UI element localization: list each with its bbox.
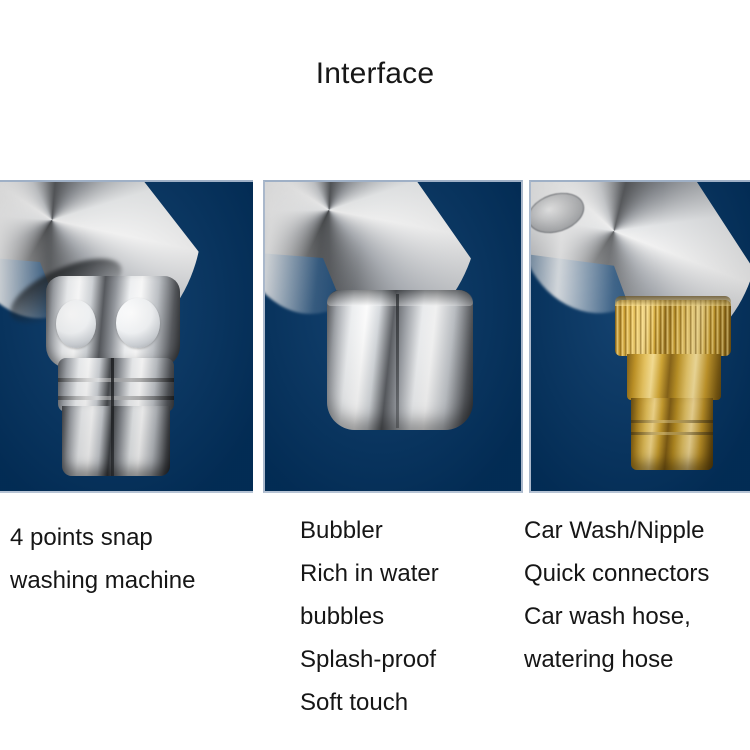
snap-button-left xyxy=(56,300,96,348)
page-title: Interface xyxy=(0,56,750,92)
brass-connector-body xyxy=(627,354,721,400)
caption-block-1: 4 points snap washing machine xyxy=(10,516,250,602)
brass-groove-lower xyxy=(631,432,713,435)
caption-line: Car Wash/Nipple xyxy=(524,509,750,552)
caption-block-3: Car Wash/Nipple Quick connectors Car was… xyxy=(524,509,750,681)
caption-line: 4 points snap xyxy=(10,516,250,559)
product-image-strip xyxy=(0,180,750,493)
caption-block-2: Bubbler Rich in water bubbles Splash-pro… xyxy=(300,509,515,724)
caption-line: Rich in water xyxy=(300,552,515,595)
product-infographic: Interface xyxy=(0,0,750,750)
caption-line: Bubbler xyxy=(300,509,515,552)
caption-line: washing machine xyxy=(10,559,250,602)
caption-line: Soft touch xyxy=(300,681,515,724)
connector-ring-upper xyxy=(58,378,174,382)
faucet-brass-nipple-icon xyxy=(531,182,750,491)
caption-line: watering hose xyxy=(524,638,750,681)
product-image-panel-1 xyxy=(0,180,253,493)
brass-collar-lip xyxy=(615,296,731,306)
caption-line: Car wash hose, xyxy=(524,595,750,638)
bubbler-cap xyxy=(327,290,473,430)
faucet-bubbler-icon xyxy=(265,182,521,491)
connector-barrel xyxy=(62,406,170,476)
product-image-panel-2 xyxy=(263,180,523,493)
bubbler-cap-lip xyxy=(327,290,473,306)
faucet-four-point-snap-icon xyxy=(0,182,253,491)
bubbler-cap-seam xyxy=(396,294,399,428)
connector-seam xyxy=(111,358,114,476)
brass-groove-upper xyxy=(631,420,713,423)
connector-ring-lower xyxy=(58,396,174,400)
product-image-panel-3 xyxy=(529,180,750,493)
caption-line: Quick connectors xyxy=(524,552,750,595)
connector-nut xyxy=(58,358,174,412)
caption-row: 4 points snap washing machine Bubbler Ri… xyxy=(0,493,750,750)
brass-knurled-collar xyxy=(615,300,731,356)
caption-line: Splash-proof xyxy=(300,638,515,681)
caption-line: bubbles xyxy=(300,595,515,638)
snap-button-right xyxy=(116,298,160,348)
